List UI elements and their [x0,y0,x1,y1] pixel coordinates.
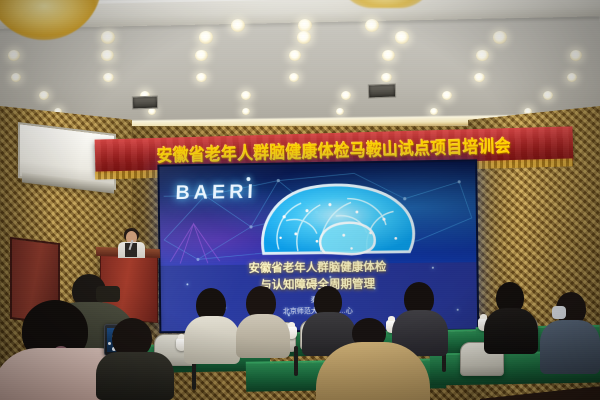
ceiling-downlight [474,73,485,83]
chair-leg-5 [192,360,196,390]
ceiling-downlight [199,31,212,43]
attendee-torso [484,308,538,354]
chair-leg-1 [294,346,298,376]
phone-mode-icon-1[interactable] [108,342,111,345]
ceiling-downlight [298,19,312,32]
ceiling-downlight [365,19,379,32]
ceiling-downlight [231,19,245,32]
ceiling-downlight [395,31,408,43]
face-mask [552,306,566,319]
ceiling-downlight [241,91,251,100]
conference-room-photo: 安徽省老年人群脑健康体检马鞍山试点项目培训会 [0,0,600,400]
ceiling-downlight [493,31,506,43]
ceiling-downlight [196,73,207,83]
attendee-torso [184,316,240,364]
ceiling-downlight [195,50,208,62]
ceiling-downlight [476,50,489,62]
ceiling-downlight [101,31,114,43]
ceiling-air-vent-left [132,96,158,110]
attendee-torso [96,352,174,400]
ceiling-air-vent-right [368,84,396,99]
camera-body [96,286,120,302]
attendee-torso [540,320,600,374]
attendee-torso [236,314,290,358]
ceiling-downlight [297,31,310,43]
